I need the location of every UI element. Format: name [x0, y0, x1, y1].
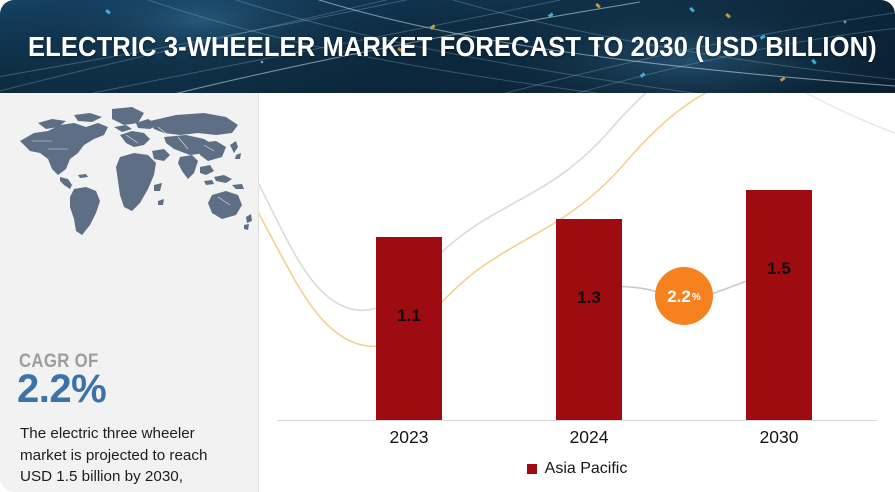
- category-label-2024: 2024: [534, 427, 644, 448]
- header-banner: ELECTRIC 3-WHEELER MARKET FORECAST TO 20…: [0, 0, 895, 93]
- plot-area: 1.1 1.3 1.5 2023 2024 2030 2.2% Asia Pac…: [259, 93, 895, 492]
- category-label-2030: 2030: [724, 427, 834, 448]
- legend-label-asia-pacific: Asia Pacific: [545, 460, 628, 478]
- cagr-value: 2.2%: [17, 369, 106, 409]
- world-map-icon: [8, 101, 254, 251]
- category-label-2023: 2023: [354, 427, 464, 448]
- cagr-bubble-value: 2.2: [667, 288, 691, 305]
- chart-panel: 1.1 1.3 1.5 2023 2024 2030 2.2% Asia Pac…: [259, 93, 895, 492]
- cagr-bubble-unit: %: [692, 293, 701, 303]
- legend-swatch-asia-pacific: [527, 464, 537, 474]
- page-title: ELECTRIC 3-WHEELER MARKET FORECAST TO 20…: [28, 0, 877, 93]
- bar-2023[interactable]: [376, 237, 442, 420]
- data-label-2030: 1.5: [739, 259, 819, 279]
- world-map-svg: [8, 101, 254, 251]
- sidebar-panel: CAGR OF 2.2% The electric three wheeler …: [0, 93, 258, 492]
- cagr-bubble[interactable]: 2.2%: [655, 267, 713, 325]
- bar-2024[interactable]: [556, 219, 622, 420]
- data-label-2023: 1.1: [369, 306, 449, 326]
- chart-legend: Asia Pacific: [259, 460, 895, 478]
- infographic-root: ELECTRIC 3-WHEELER MARKET FORECAST TO 20…: [0, 0, 895, 492]
- bar-2030[interactable]: [746, 190, 812, 420]
- sidebar-description: The electric three wheeler market is pro…: [20, 423, 242, 492]
- x-axis-line: [277, 420, 877, 421]
- data-label-2024: 1.3: [549, 288, 629, 308]
